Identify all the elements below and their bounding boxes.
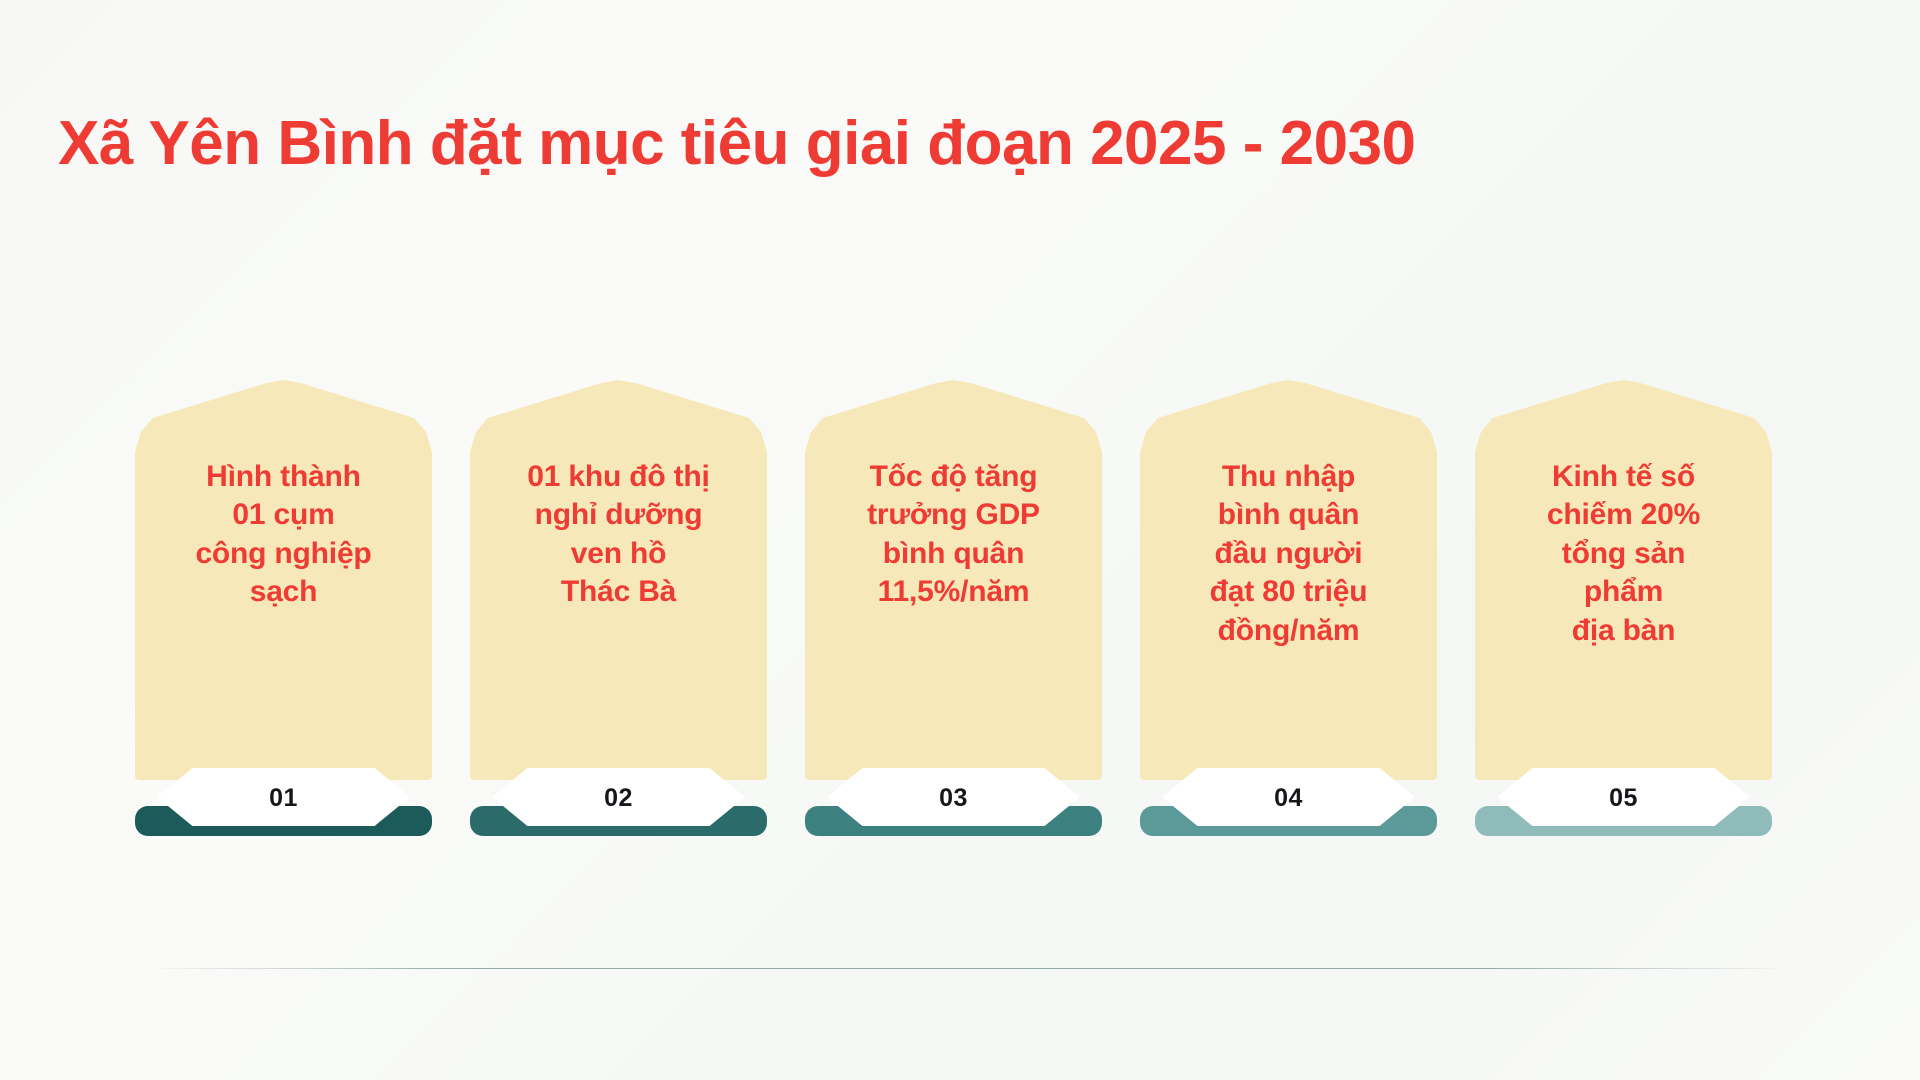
- card-text: Hình thành 01 cụm công nghiệp sạch: [143, 458, 424, 612]
- card-text: 01 khu đô thị nghỉ dưỡng ven hồ Thác Bà: [478, 458, 759, 612]
- card-text: Kinh tế số chiếm 20% tổng sản phẩm địa b…: [1483, 458, 1764, 650]
- card-footer: 05: [1475, 768, 1772, 850]
- card-text: Tốc độ tăng trưởng GDP bình quân 11,5%/n…: [813, 458, 1094, 612]
- goal-card-03[interactable]: Tốc độ tăng trưởng GDP bình quân 11,5%/n…: [805, 380, 1102, 850]
- page-title: Xã Yên Bình đặt mục tiêu giai đoạn 2025 …: [58, 108, 1858, 179]
- card-number-label: 01: [269, 784, 298, 813]
- card-number-label: 04: [1274, 784, 1303, 813]
- goal-card-04[interactable]: Thu nhập bình quân đầu người đạt 80 triệ…: [1140, 380, 1437, 850]
- card-number-badge: 02: [492, 768, 745, 826]
- goal-card-05[interactable]: Kinh tế số chiếm 20% tổng sản phẩm địa b…: [1475, 380, 1772, 850]
- card-footer: 02: [470, 768, 767, 850]
- bottom-divider: [163, 968, 1775, 969]
- card-footer: 03: [805, 768, 1102, 850]
- card-number-badge: 01: [157, 768, 410, 826]
- goal-card-01[interactable]: Hình thành 01 cụm công nghiệp sạch 01: [135, 380, 432, 850]
- card-number-badge: 04: [1162, 768, 1415, 826]
- card-footer: 01: [135, 768, 432, 850]
- goal-cards-row: Hình thành 01 cụm công nghiệp sạch 01 01…: [135, 380, 1795, 850]
- card-number-label: 02: [604, 784, 633, 813]
- card-text: Thu nhập bình quân đầu người đạt 80 triệ…: [1148, 458, 1429, 650]
- goal-card-02[interactable]: 01 khu đô thị nghỉ dưỡng ven hồ Thác Bà …: [470, 380, 767, 850]
- card-number-badge: 05: [1497, 768, 1750, 826]
- card-number-label: 03: [939, 784, 968, 813]
- card-footer: 04: [1140, 768, 1437, 850]
- card-number-label: 05: [1609, 784, 1638, 813]
- card-number-badge: 03: [827, 768, 1080, 826]
